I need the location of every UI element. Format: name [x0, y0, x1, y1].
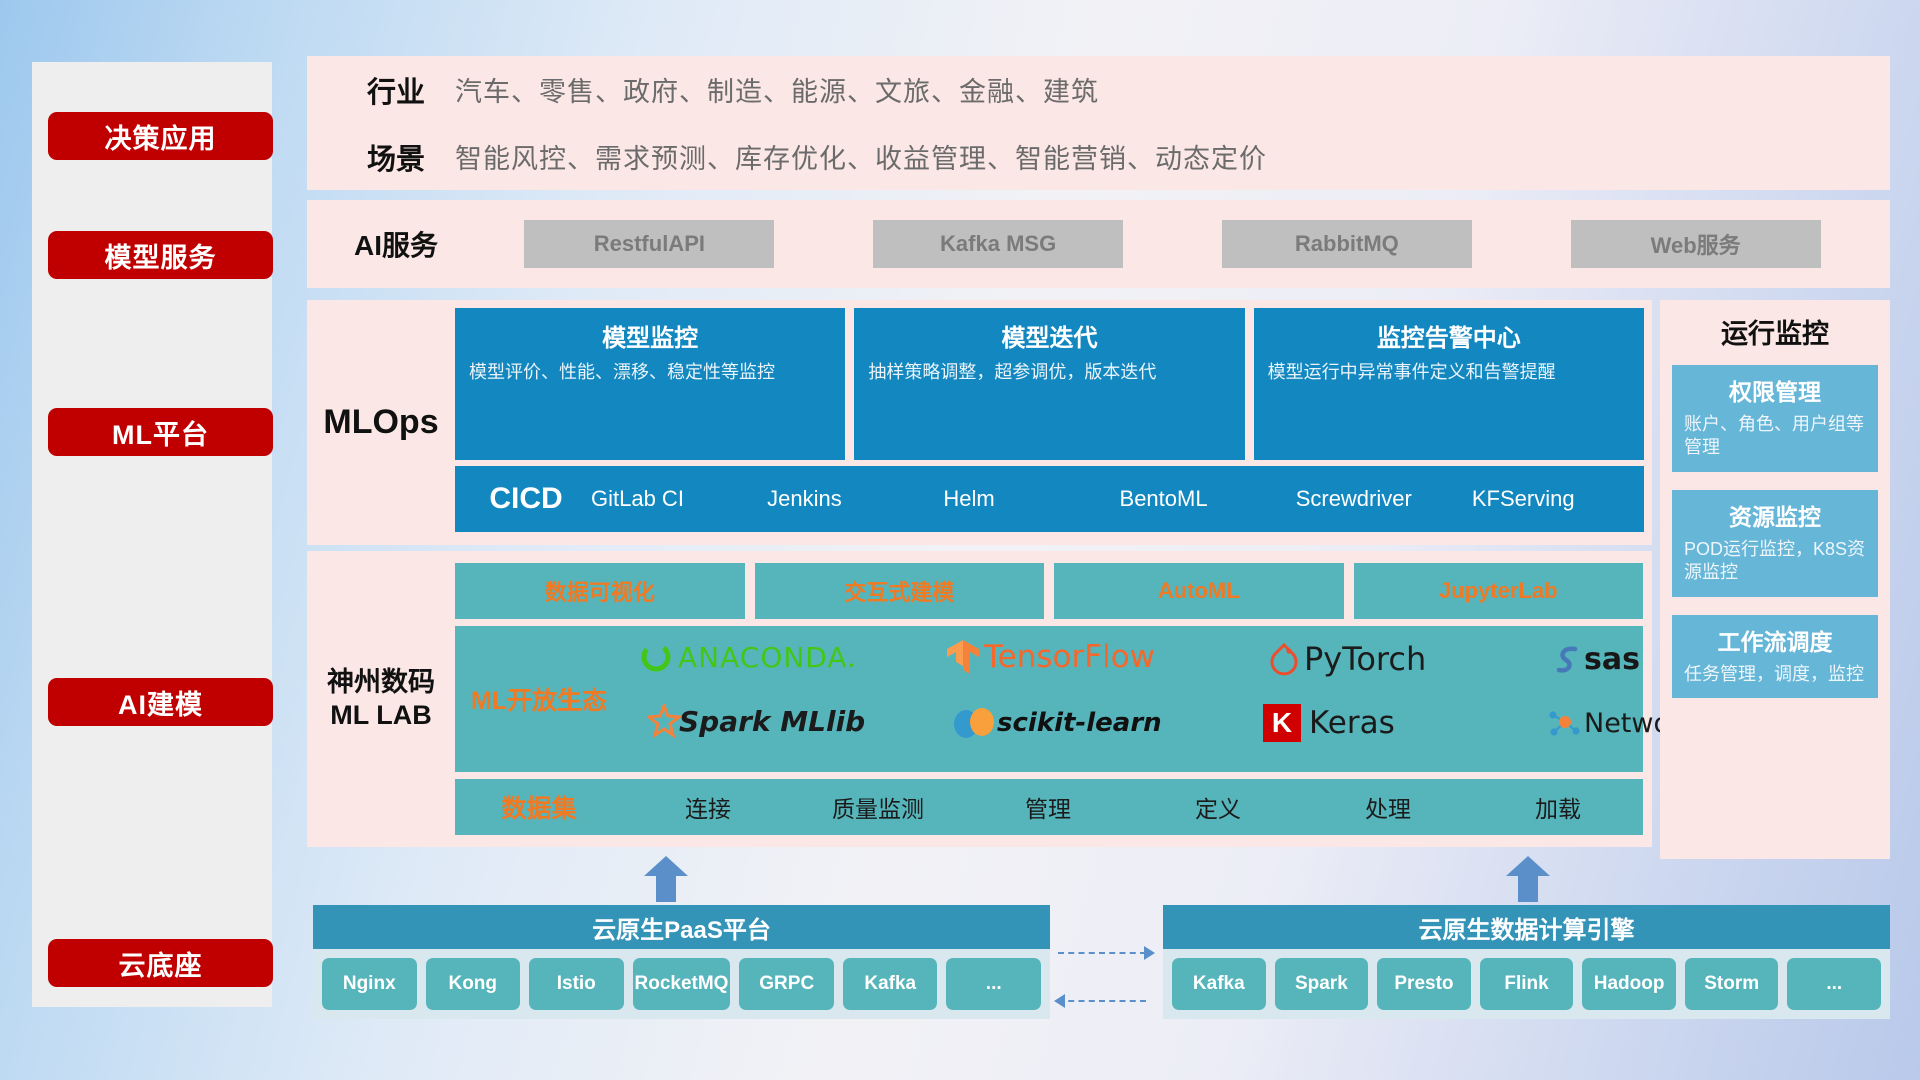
cicd-item[interactable]: BentoML	[1116, 486, 1292, 512]
cloud-paas-block: 云原生PaaS平台 Nginx Kong Istio RocketMQ GRPC…	[313, 905, 1050, 1019]
cicd-item[interactable]: Helm	[939, 486, 1115, 512]
mlops-card[interactable]: 模型迭代 抽样策略调整，超参调优，版本迭代	[854, 308, 1244, 460]
cicd-item[interactable]: KFServing	[1468, 486, 1644, 512]
rail-item-model-service[interactable]: 模型服务	[48, 231, 273, 279]
spark-mllib-wordmark: Spark MLlib	[679, 705, 865, 738]
ml-lab-tool[interactable]: JupyterLab	[1354, 563, 1644, 619]
mlops-card-desc: 抽样策略调整，超参调优，版本迭代	[868, 361, 1230, 385]
dataset-bar: 数据集 连接 质量监测 管理 定义 处理 加载	[455, 779, 1643, 835]
up-arrow-data-engine-icon	[1506, 856, 1550, 902]
monitoring-card-title: 权限管理	[1684, 373, 1866, 407]
sas-logo: sas	[1553, 642, 1640, 677]
spark-mllib-logo: Spark MLlib	[647, 704, 865, 738]
cicd-item[interactable]: Screwdriver	[1292, 486, 1468, 512]
scikit-learn-logo: scikit-learn	[953, 706, 1162, 740]
ml-ecosystem-band: ML开放生态 ANACONDA.	[455, 626, 1643, 772]
arrow-head-left-icon	[1054, 994, 1065, 1008]
rail-item-decision-app[interactable]: 决策应用	[48, 112, 273, 160]
dataset-item[interactable]: 加载	[1473, 790, 1643, 824]
dataset-item[interactable]: 定义	[1133, 790, 1303, 824]
ai-service-panel: AI服务 RestfulAPI Kafka MSG RabbitMQ Web服务	[307, 200, 1890, 288]
architecture-diagram: 决策应用 模型服务 ML平台 AI建模 云底座 行业 汽车、零售、政府、制造、能…	[0, 0, 1920, 1080]
cloud-chip[interactable]: RocketMQ	[633, 958, 731, 1010]
dataset-item[interactable]: 连接	[623, 790, 793, 824]
mlops-card-list: 模型监控 模型评价、性能、漂移、稳定性等监控 模型迭代 抽样策略调整，超参调优，…	[455, 308, 1644, 460]
cicd-item[interactable]: GitLab CI	[587, 486, 763, 512]
cloud-chip[interactable]: Kafka	[1172, 958, 1266, 1010]
ml-lab-label: 神州数码 ML LAB	[307, 666, 455, 733]
anaconda-logo: ANACONDA.	[639, 640, 857, 674]
rail-label: 模型服务	[105, 236, 217, 275]
operation-monitoring-panel: 运行监控 权限管理 账户、角色、用户组等管理 资源监控 POD运行监控，K8S资…	[1660, 300, 1890, 859]
ml-lab-label-line1: 神州数码	[307, 666, 455, 699]
keras-logo: K Keras	[1263, 704, 1395, 742]
tensorflow-logo: TensorFlow	[945, 638, 1155, 676]
cicd-title: CICD	[455, 482, 587, 516]
ai-service-chip[interactable]: RabbitMQ	[1222, 220, 1472, 268]
cloud-data-engine-chip-list: Kafka Spark Presto Flink Hadoop Storm ..…	[1163, 949, 1890, 1019]
cloud-chip[interactable]: Hadoop	[1582, 958, 1676, 1010]
up-arrow-paas-icon	[644, 856, 688, 902]
ml-lab-content: 数据可视化 交互式建模 AutoML JupyterLab ML开放生态 ANA…	[455, 554, 1652, 844]
monitoring-card[interactable]: 工作流调度 任务管理，调度，监控	[1672, 615, 1878, 698]
pytorch-wordmark: PyTorch	[1304, 640, 1426, 678]
cicd-item-list: GitLab CI Jenkins Helm BentoML Screwdriv…	[587, 486, 1644, 512]
ml-lab-tool[interactable]: AutoML	[1054, 563, 1344, 619]
ml-lab-tool-list: 数据可视化 交互式建模 AutoML JupyterLab	[455, 563, 1643, 619]
cloud-chip[interactable]: Kong	[426, 958, 521, 1010]
cicd-bar: CICD GitLab CI Jenkins Helm BentoML Scre…	[455, 466, 1644, 532]
cloud-chip[interactable]: Istio	[529, 958, 624, 1010]
monitoring-card-desc: 账户、角色、用户组等管理	[1684, 413, 1866, 460]
operation-monitoring-title: 运行监控	[1721, 312, 1829, 351]
ml-ecosystem-label: ML开放生态	[455, 681, 623, 717]
cloud-chip[interactable]: Flink	[1480, 958, 1574, 1010]
scenario-value: 智能风控、需求预测、库存优化、收益管理、智能营销、动态定价	[455, 137, 1267, 176]
spark-star-icon	[647, 704, 681, 738]
rail-label: ML平台	[112, 413, 209, 452]
cloud-chip[interactable]: GRPC	[739, 958, 834, 1010]
cloud-chip[interactable]: Kafka	[843, 958, 938, 1010]
cicd-item[interactable]: Jenkins	[763, 486, 939, 512]
rail-label: 云底座	[119, 944, 203, 983]
monitoring-card-desc: 任务管理，调度，监控	[1684, 663, 1866, 686]
monitoring-card-title: 资源监控	[1684, 498, 1866, 532]
dataset-item[interactable]: 处理	[1303, 790, 1473, 824]
cloud-chip[interactable]: Spark	[1275, 958, 1369, 1010]
ml-lab-label-line2: ML LAB	[307, 699, 455, 732]
cloud-chip-more[interactable]: ...	[1787, 958, 1881, 1010]
mlops-content: 模型监控 模型评价、性能、漂移、稳定性等监控 模型迭代 抽样策略调整，超参调优，…	[455, 300, 1652, 545]
mlops-label: MLOps	[307, 300, 455, 545]
cloud-data-engine-title: 云原生数据计算引擎	[1163, 905, 1890, 949]
monitoring-card[interactable]: 资源监控 POD运行监控，K8S资源监控	[1672, 490, 1878, 597]
dataset-item-list: 连接 质量监测 管理 定义 处理 加载	[623, 790, 1643, 824]
mlops-card-desc: 模型运行中异常事件定义和告警提醒	[1268, 361, 1630, 385]
industry-key: 行业	[337, 69, 455, 111]
ai-service-chip[interactable]: RestfulAPI	[524, 220, 774, 268]
ml-lab-tool[interactable]: 数据可视化	[455, 563, 745, 619]
industry-row: 行业 汽车、零售、政府、制造、能源、文旅、金融、建筑	[307, 56, 1890, 123]
rail-label: 决策应用	[105, 117, 217, 156]
ml-ecosystem-logos: ANACONDA. TensorFlow	[623, 626, 1643, 772]
rail-item-cloud-base[interactable]: 云底座	[48, 939, 273, 987]
keras-icon: K	[1263, 704, 1301, 742]
mlops-card-title: 监控告警中心	[1268, 318, 1630, 353]
tensorflow-wordmark: TensorFlow	[984, 639, 1155, 675]
layer-rail	[32, 62, 272, 1007]
industry-scenario-panel: 行业 汽车、零售、政府、制造、能源、文旅、金融、建筑 场景 智能风控、需求预测、…	[307, 56, 1890, 190]
sas-wordmark: sas	[1584, 642, 1640, 677]
sas-icon	[1553, 644, 1583, 676]
bidirectional-connector	[1058, 952, 1168, 1012]
anaconda-icon	[639, 640, 673, 674]
cloud-data-engine-block: 云原生数据计算引擎 Kafka Spark Presto Flink Hadoo…	[1163, 905, 1890, 1019]
scikit-learn-wordmark: scikit-learn	[997, 708, 1162, 738]
monitoring-card[interactable]: 权限管理 账户、角色、用户组等管理	[1672, 365, 1878, 472]
industry-value: 汽车、零售、政府、制造、能源、文旅、金融、建筑	[455, 70, 1099, 109]
mlops-card[interactable]: 监控告警中心 模型运行中异常事件定义和告警提醒	[1254, 308, 1644, 460]
ml-lab-panel: 神州数码 ML LAB 数据可视化 交互式建模 AutoML JupyterLa…	[307, 551, 1652, 847]
rail-label: AI建模	[118, 683, 203, 722]
ai-service-chip[interactable]: Web服务	[1571, 220, 1821, 268]
keras-wordmark: Keras	[1309, 705, 1395, 741]
anaconda-wordmark: ANACONDA.	[678, 641, 857, 674]
dataset-title: 数据集	[455, 789, 623, 825]
networkx-icon	[1545, 706, 1581, 740]
ai-service-label: AI服务	[337, 224, 455, 264]
scikit-learn-icon	[953, 706, 995, 740]
pytorch-logo: PyTorch	[1269, 640, 1426, 678]
rail-item-ai-modeling[interactable]: AI建模	[48, 678, 273, 726]
pytorch-icon	[1269, 642, 1299, 676]
cloud-chip[interactable]: Storm	[1685, 958, 1779, 1010]
dataset-item[interactable]: 管理	[963, 790, 1133, 824]
cloud-chip[interactable]: Nginx	[322, 958, 417, 1010]
ml-lab-tool[interactable]: 交互式建模	[755, 563, 1045, 619]
mlops-card-desc: 模型评价、性能、漂移、稳定性等监控	[469, 361, 831, 385]
cloud-paas-chip-list: Nginx Kong Istio RocketMQ GRPC Kafka ...	[313, 949, 1050, 1019]
ai-service-chip[interactable]: Kafka MSG	[873, 220, 1123, 268]
tensorflow-icon	[945, 638, 981, 676]
ai-service-chips: RestfulAPI Kafka MSG RabbitMQ Web服务	[455, 220, 1890, 268]
mlops-card-title: 模型迭代	[868, 318, 1230, 353]
monitoring-card-title: 工作流调度	[1684, 623, 1866, 657]
scenario-row: 场景 智能风控、需求预测、库存优化、收益管理、智能营销、动态定价	[307, 123, 1890, 190]
cloud-chip-more[interactable]: ...	[946, 958, 1041, 1010]
cloud-chip[interactable]: Presto	[1377, 958, 1471, 1010]
arrow-head-right-icon	[1144, 946, 1155, 960]
mlops-panel: MLOps 模型监控 模型评价、性能、漂移、稳定性等监控 模型迭代 抽样策略调整…	[307, 300, 1652, 545]
mlops-card-title: 模型监控	[469, 318, 831, 353]
rail-item-ml-platform[interactable]: ML平台	[48, 408, 273, 456]
cloud-paas-title: 云原生PaaS平台	[313, 905, 1050, 949]
monitoring-card-desc: POD运行监控，K8S资源监控	[1684, 538, 1866, 585]
scenario-key: 场景	[337, 136, 455, 178]
dataset-item[interactable]: 质量监测	[793, 790, 963, 824]
mlops-card[interactable]: 模型监控 模型评价、性能、漂移、稳定性等监控	[455, 308, 845, 460]
